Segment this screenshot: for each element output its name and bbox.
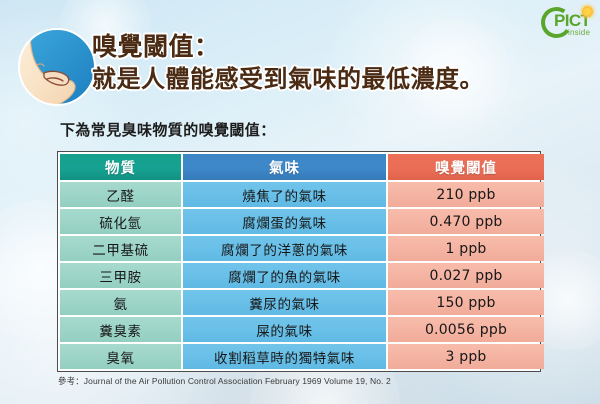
cell-substance: 氨 xyxy=(60,290,181,315)
table-row: 糞臭素 屎的氣味 0.0056 ppb xyxy=(60,317,544,342)
table-header-row: 物質 氣味 嗅覺閾值 xyxy=(60,154,544,180)
cell-threshold: 0.0056 ppb xyxy=(388,317,544,342)
cell-substance: 硫化氫 xyxy=(60,209,181,234)
cell-odor: 糞尿的氣味 xyxy=(183,290,386,315)
cell-substance: 臭氧 xyxy=(60,344,181,369)
cell-odor: 腐爛蛋的氣味 xyxy=(183,209,386,234)
page-title: 嗅覺閾值： 就是人體能感受到氣味的最低濃度。 xyxy=(92,31,542,95)
cell-odor: 收割稻草時的獨特氣味 xyxy=(183,344,386,369)
table-row: 硫化氫 腐爛蛋的氣味 0.470 ppb xyxy=(60,209,544,234)
source-reference: 參考：Journal of the Air Pollution Control … xyxy=(58,375,391,387)
cell-odor: 腐爛了的魚的氣味 xyxy=(183,263,386,288)
cell-threshold: 210 ppb xyxy=(388,182,544,207)
title-line-1: 嗅覺閾值： xyxy=(92,31,542,63)
table-row: 三甲胺 腐爛了的魚的氣味 0.027 ppb xyxy=(60,263,544,288)
cell-odor: 燒焦了的氣味 xyxy=(183,182,386,207)
sun-dot-icon xyxy=(582,6,593,17)
table-row: 氨 糞尿的氣味 150 ppb xyxy=(60,290,544,315)
cell-threshold: 0.470 ppb xyxy=(388,209,544,234)
cell-substance: 乙醛 xyxy=(60,182,181,207)
slide-canvas: PICT inside xyxy=(0,0,600,404)
cell-threshold: 3 ppb xyxy=(388,344,544,369)
title-line-2: 就是人體能感受到氣味的最低濃度。 xyxy=(92,63,542,95)
table-row: 二甲基硫 腐爛了的洋蔥的氣味 1 ppb xyxy=(60,236,544,261)
column-header-substance: 物質 xyxy=(60,154,181,180)
cell-substance: 二甲基硫 xyxy=(60,236,181,261)
cell-threshold: 150 ppb xyxy=(388,290,544,315)
column-header-threshold: 嗅覺閾值 xyxy=(388,154,544,180)
cell-threshold: 1 ppb xyxy=(388,236,544,261)
cell-odor: 屎的氣味 xyxy=(183,317,386,342)
table-row: 乙醛 燒焦了的氣味 210 ppb xyxy=(60,182,544,207)
odor-threshold-table: 物質 氣味 嗅覺閾值 乙醛 燒焦了的氣味 210 ppb 硫化氫 腐爛蛋的氣味 … xyxy=(57,151,541,372)
cell-substance: 三甲胺 xyxy=(60,263,181,288)
subtitle-text: 下為常見臭味物質的嗅覺閾值： xyxy=(60,119,276,140)
pict-inside-logo: PICT inside xyxy=(541,5,597,41)
cell-threshold: 0.027 ppb xyxy=(388,263,544,288)
table-row: 臭氧 收割稻草時的獨特氣味 3 ppb xyxy=(60,344,544,369)
column-header-odor: 氣味 xyxy=(183,154,386,180)
logo-subtext: inside xyxy=(568,28,590,37)
cell-odor: 腐爛了的洋蔥的氣味 xyxy=(183,236,386,261)
cell-substance: 糞臭素 xyxy=(60,317,181,342)
nose-profile-icon xyxy=(17,27,97,107)
